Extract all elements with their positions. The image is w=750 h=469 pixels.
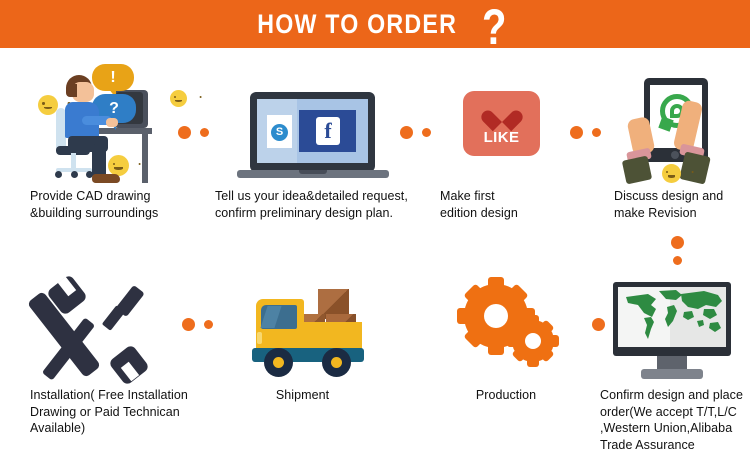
step-7-caption-line-1: Production (450, 387, 562, 404)
step-5: Installation( Free Installation Drawing … (30, 262, 220, 437)
step-7-caption: Production (450, 387, 562, 404)
truck-bed (300, 322, 362, 351)
step-8-caption-line-2: order(We accept T/T,L/C (600, 404, 750, 421)
connector-dots-2 (400, 126, 431, 139)
step-5-caption-line-2: Drawing or Paid Technican (30, 404, 220, 421)
gear-small-hole (525, 333, 541, 349)
chair-wheel-left (55, 171, 62, 178)
bubble-exclamation-text: ! (110, 69, 115, 87)
monitor-stand (641, 369, 703, 379)
gears-icon (450, 262, 610, 387)
step-6: Shipment (240, 262, 430, 404)
dot-small (204, 320, 213, 329)
step-4-caption-line-1: Discuss design and (614, 188, 744, 205)
dot-large (182, 318, 195, 331)
like-heart-icon: LIKE (440, 58, 575, 188)
person-leg (92, 144, 106, 178)
facebook-tile: f (299, 110, 356, 152)
step-7: Production (450, 262, 610, 404)
bubble-exclamation: ! (92, 64, 134, 91)
step-1: ! ? Provide CAD drawing (30, 58, 215, 221)
tablet-home-button (671, 151, 679, 159)
step-5-caption-line-3: Available) (30, 420, 220, 437)
monitor-screen (618, 287, 726, 347)
dot-large (671, 236, 684, 249)
truck-wheel-rear (322, 348, 351, 377)
step-5-caption: Installation( Free Installation Drawing … (30, 387, 220, 437)
connector-dots-1 (178, 126, 209, 139)
connector-dots-vertical (671, 236, 684, 265)
truck-wheel-hub-rear (331, 357, 342, 368)
step-6-caption-line-1: Shipment (240, 387, 365, 404)
desk-leg (142, 128, 148, 183)
emoji-happy-left (38, 95, 58, 115)
bubble-question-text: ? (109, 100, 119, 118)
sleeve-right (679, 151, 711, 184)
step-3: LIKE Make first edition design (440, 58, 575, 221)
person-at-computer-icon: ! ? (30, 58, 215, 188)
emoji-right (170, 90, 187, 107)
like-label: LIKE (484, 129, 520, 146)
skype-tile: S (267, 115, 292, 148)
facebook-icon: f (316, 117, 340, 145)
step-3-caption-line-2: edition design (440, 205, 575, 222)
person-hand (106, 118, 118, 127)
gear-large-hole (484, 304, 508, 328)
dot-large (570, 126, 583, 139)
monitor-world-map-icon (600, 262, 750, 387)
delivery-truck-icon (240, 262, 430, 387)
how-to-order-infographic: HOW TO ORDER ? ! ? (0, 0, 750, 469)
heart-icon (489, 102, 515, 125)
step-2: S f Tell us your idea&detailed request, … (215, 58, 430, 221)
truck-headlight (257, 332, 262, 344)
step-8-caption: Confirm design and place order(We accept… (600, 387, 750, 453)
step-3-caption: Make first edition design (440, 188, 575, 221)
step-8-caption-line-1: Confirm design and place (600, 387, 750, 404)
gear-small (512, 320, 554, 362)
step-1-caption-line-1: Provide CAD drawing (30, 188, 215, 205)
header-content: HOW TO ORDER ? (0, 0, 750, 48)
step-2-caption-line-2: confirm preliminary design plan. (215, 205, 430, 222)
laptop-social-icon: S f (215, 58, 430, 188)
dot-small (422, 128, 431, 137)
truck-wheel-front (264, 348, 293, 377)
tablet-whatsapp-icon (614, 58, 744, 188)
dot-small (592, 128, 601, 137)
step-4: Discuss design and make Revision (614, 58, 744, 221)
person-shoe (92, 174, 120, 183)
gear-small-body (512, 320, 554, 362)
screwdriver-neck (102, 305, 125, 331)
dot-large (400, 126, 413, 139)
step-1-caption-line-2: &building surroundings (30, 205, 215, 222)
step-8: Confirm design and place order(We accept… (600, 262, 750, 453)
step-5-caption-line-1: Installation( Free Installation (30, 387, 220, 404)
step-3-caption-line-1: Make first (440, 188, 575, 205)
step-1-caption: Provide CAD drawing &building surroundin… (30, 188, 215, 221)
dot-small (200, 128, 209, 137)
page-title: HOW TO ORDER (257, 11, 457, 38)
laptop-trackpad-notch (299, 170, 327, 174)
connector-dots-3 (570, 126, 601, 139)
step-6-caption: Shipment (240, 387, 365, 404)
step-8-caption-line-4: Trade Assurance (600, 437, 750, 454)
like-card: LIKE (463, 91, 540, 156)
truck-wheel-hub-front (273, 357, 284, 368)
emoji-bottom (108, 155, 129, 176)
step-2-caption-line-1: Tell us your idea&detailed request, (215, 188, 430, 205)
connector-dots-4 (182, 318, 213, 331)
step-4-caption-line-2: make Revision (614, 205, 744, 222)
step-2-caption: Tell us your idea&detailed request, conf… (215, 188, 430, 221)
world-map-shape (618, 287, 726, 347)
sleeve-left (622, 156, 652, 185)
step-4-caption: Discuss design and make Revision (614, 188, 744, 221)
emoji-bottom (662, 164, 681, 183)
question-mark-icon: ? (482, 2, 506, 52)
skype-icon: S (271, 124, 288, 141)
person-hair-back (66, 84, 77, 97)
step-8-caption-line-3: ,Western Union,Alibaba (600, 420, 750, 437)
chair-wheel-mid (71, 171, 78, 178)
dot-large (178, 126, 191, 139)
